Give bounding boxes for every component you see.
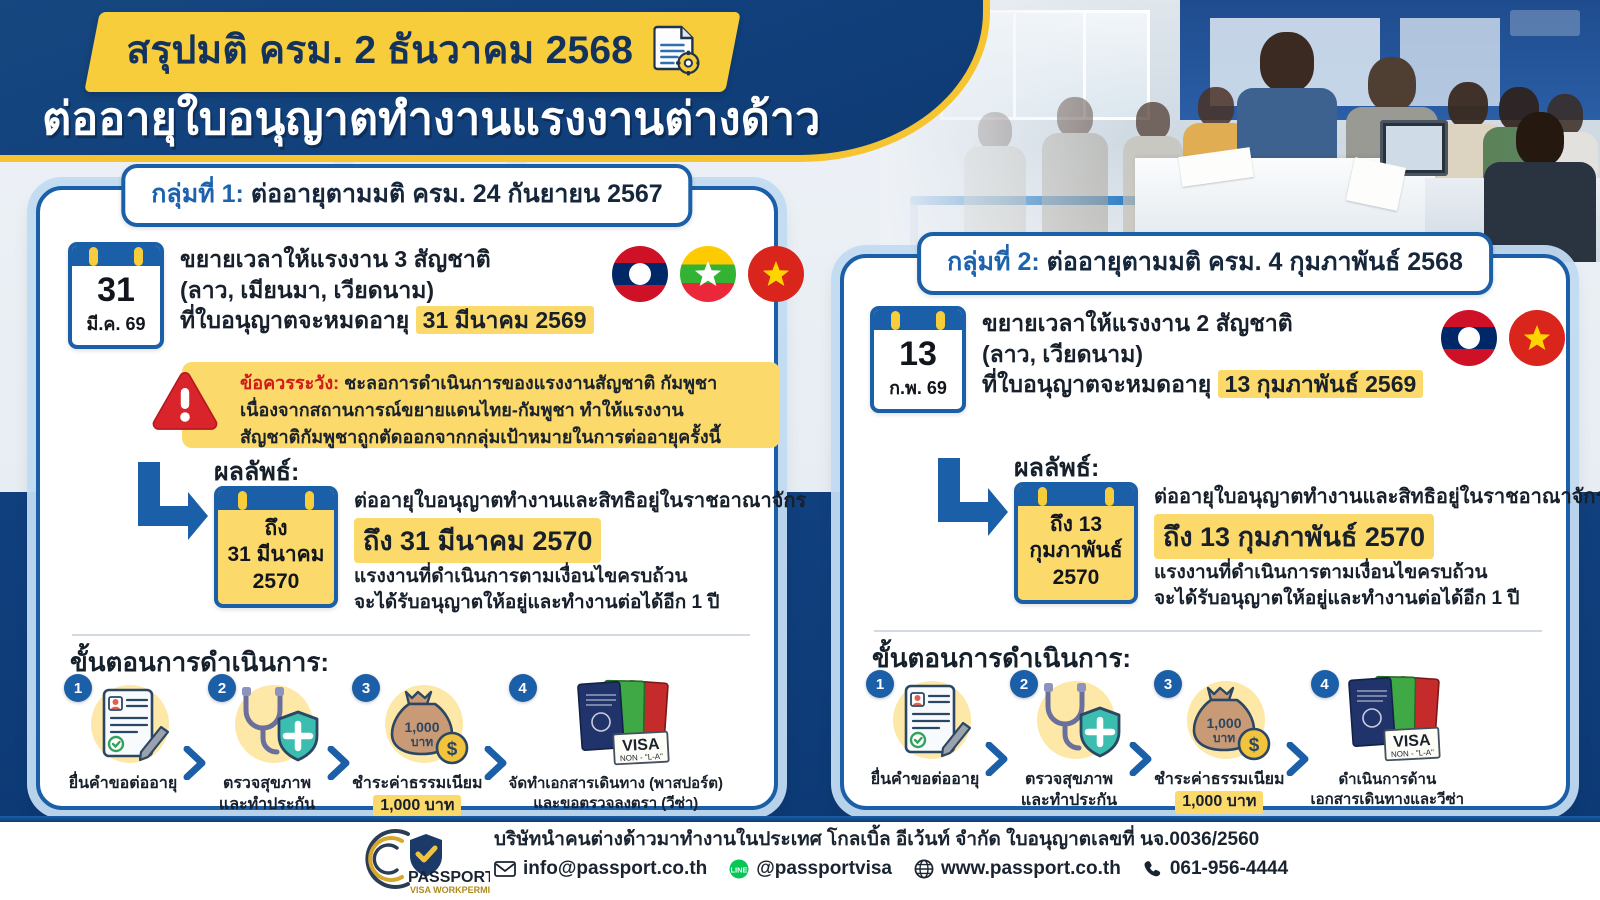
summary-line-2: (ลาว, เวียดนาม)	[982, 339, 1423, 370]
expiry-calendar-icon: 31 มี.ค. 69	[68, 242, 164, 349]
step-caption-line: ชำระค่าธรรมเนียม	[1154, 770, 1285, 791]
card-divider	[72, 634, 750, 636]
office-counter-queue-photo	[880, 0, 1600, 262]
step-caption: ตรวจสุขภาพ และทำประกัน	[219, 774, 315, 816]
group-2-title: กลุ่มที่ 2: ต่ออายุตามมติ ครม. 4 กุมภาพั…	[917, 232, 1493, 295]
group-2-summary-text: ขยายเวลาให้แรงงาน 2 สัญชาติ (ลาว, เวียดน…	[982, 306, 1423, 400]
step-caption: ชำระค่าธรรมเนียม 1,000 บาท	[352, 774, 483, 818]
chevron-right-icon	[1128, 742, 1154, 781]
group-1-summary-row: 31 มี.ค. 69 ขยายเวลาให้แรงงาน 3 สัญชาติ …	[68, 242, 804, 349]
footer-company-line: บริษัทนำคนต่างด้าวมาทำงานในประเทศ โกลเบิ…	[494, 826, 1288, 855]
result-calendar-line-2: กุมภาพันธ์	[1022, 538, 1130, 564]
group-1-title-rest: ต่ออายุตามมติ ครม. 24 กันยายน 2567	[244, 180, 663, 208]
result-calendar-line-3: 2570	[222, 569, 330, 595]
result-text: ต่ออายุใบอนุญาตทำงานและสิทธิอยู่ในราชอาณ…	[1154, 484, 1600, 611]
stethoscope-shield-icon	[222, 678, 326, 770]
logo-wordmark: PASSPORT.	[408, 869, 490, 886]
group-1-flags	[612, 242, 804, 302]
group-1-warning: ข้อควรระวัง: ชะลอการดำเนินการของแรงงานสั…	[150, 362, 780, 448]
step-number-badge: 4	[509, 674, 537, 702]
step-number-badge: 3	[352, 674, 380, 702]
step-item-2[interactable]: 2 ตรวจสุขภาพ และทำประกัน	[208, 678, 326, 816]
summary-line-2: (ลาว, เมียนมา, เวียดนาม)	[180, 275, 594, 306]
calendar-day: 31	[72, 266, 160, 307]
step-fee-amount: 1,000 บาท	[1175, 791, 1263, 814]
svg-text:$: $	[1249, 735, 1260, 756]
photo-staff	[1480, 112, 1600, 262]
warning-keyword: ข้อควรระวัง:	[240, 373, 339, 393]
warning-line-3: สัญชาติกัมพูชาถูกตัดออกจากกลุ่มเป้าหมายใ…	[240, 424, 768, 451]
steps-title: ขั้นตอนการดำเนินการ:	[872, 638, 1131, 679]
group-2-summary-row: 13 ก.พ. 69 ขยายเวลาให้แรงงาน 2 สัญชาติ (…	[870, 306, 1565, 413]
flag-vietnam-icon	[748, 246, 804, 302]
summary-line-1: ขยายเวลาให้แรงงาน 3 สัญชาติ	[180, 244, 594, 275]
step-fee-amount: 1,000 บาท	[373, 795, 461, 818]
chevron-right-icon	[984, 742, 1010, 781]
money-bag-amount: 1,000	[1207, 715, 1242, 731]
result-calendar-icon: ถึง 13 กุมภาพันธ์ 2570	[1014, 482, 1138, 604]
group-1-label: กลุ่มที่ 1:	[151, 180, 244, 208]
flag-laos-icon	[1441, 310, 1497, 366]
passports-visa-icon: VISA NON - "L-A"	[564, 678, 682, 770]
step-caption-line: ตรวจสุขภาพ	[219, 774, 315, 795]
stethoscope-shield-icon	[1024, 674, 1128, 766]
result-line-1: ต่ออายุใบอนุญาตทำงานและสิทธิอยู่ในราชอาณ…	[354, 488, 854, 515]
header-banner: สรุปมติ ครม. 2 ธันวาคม 2568 ต่ออายุใบอนุ…	[0, 0, 990, 162]
application-form-icon	[880, 674, 984, 766]
photo-emblem	[1510, 10, 1580, 36]
document-gear-icon	[653, 24, 699, 76]
flag-laos-icon	[612, 246, 668, 302]
warning-box: ข้อควรระวัง: ชะลอการดำเนินการของแรงงานสั…	[182, 362, 780, 448]
header-title-pill: สรุปมติ ครม. 2 ธันวาคม 2568	[84, 12, 740, 92]
warning-line-1-text: ชะลอการดำเนินการของแรงงานสัญชาติ กัมพูชา	[339, 373, 717, 393]
phone-icon	[1143, 859, 1163, 879]
summary-line-3: ที่ใบอนุญาตจะหมดอายุ 13 กุมภาพันธ์ 2569	[982, 369, 1423, 400]
passport-logo: PASSPORT. VISA WORKPERMIT	[364, 824, 490, 896]
application-form-icon	[78, 678, 182, 770]
summary-line-3-prefix: ที่ใบอนุญาตจะหมดอายุ	[180, 307, 416, 333]
group-2-label: กลุ่มที่ 2:	[947, 248, 1040, 276]
group-1-title: กลุ่มที่ 1: ต่ออายุตามมติ ครม. 24 กันยาย…	[121, 164, 692, 227]
step-item-1[interactable]: 1 ยื่นคำขอต่ออายุ	[866, 674, 984, 791]
flag-vietnam-icon	[1509, 310, 1565, 366]
result-highlight: ถึง 31 มีนาคม 2570	[354, 518, 601, 563]
chevron-right-icon	[182, 746, 208, 785]
step-number-badge: 3	[1154, 670, 1182, 698]
summary-line-3-prefix: ที่ใบอนุญาตจะหมดอายุ	[982, 371, 1218, 397]
step-item-4[interactable]: 4 VISA NON - "L-A" จัดทำเอกสารเดินทาง (พ…	[509, 678, 723, 813]
step-number-badge: 2	[208, 674, 236, 702]
result-calendar-line-2: 31 มีนาคม	[222, 542, 330, 568]
chevron-right-icon	[1285, 742, 1311, 781]
logo-subtitle: VISA WORKPERMIT	[410, 885, 490, 895]
step-caption-line: และทำประกัน	[1021, 791, 1117, 812]
summary-line-3: ที่ใบอนุญาตจะหมดอายุ 31 มีนาคม 2569	[180, 305, 594, 336]
group-1-steps: 1 ยื่นคำขอต่ออายุ 2	[64, 678, 764, 818]
footer-contact-line: info@passport.co.th LINE @passportvisa w…	[494, 858, 1288, 880]
step-caption: ชำระค่าธรรมเนียม 1,000 บาท	[1154, 770, 1285, 814]
chevron-right-icon	[483, 746, 509, 785]
result-highlight: ถึง 13 กุมภาพันธ์ 2570	[1154, 514, 1434, 559]
step-number-badge: 1	[64, 674, 92, 702]
result-calendar-line-1: ถึง	[222, 516, 330, 542]
result-calendar-line-1: ถึง 13	[1022, 512, 1130, 538]
step-caption: ตรวจสุขภาพ และทำประกัน	[1021, 770, 1117, 812]
step-item-1[interactable]: 1 ยื่นคำขอต่ออายุ	[64, 678, 182, 795]
step-caption-line: ยื่นคำขอต่ออายุ	[871, 770, 980, 791]
result-arrow-icon	[936, 458, 1010, 542]
card-divider	[874, 630, 1542, 632]
footer-contact: บริษัทนำคนต่างด้าวมาทำงานในประเทศ โกลเบิ…	[494, 826, 1288, 880]
flag-myanmar-icon	[680, 246, 736, 302]
line-app-icon: LINE	[729, 859, 749, 879]
svg-text:LINE: LINE	[731, 865, 748, 874]
page-subtitle: ต่ออายุใบอนุญาตทำงานแรงงานต่างด้าว	[42, 82, 820, 154]
passports-visa-icon: VISA NON - "L-A"	[1335, 674, 1453, 766]
svg-text:$: $	[447, 739, 458, 760]
step-caption-line: ชำระค่าธรรมเนียม	[352, 774, 483, 795]
step-caption-line: ดำเนินการด้าน	[1311, 770, 1465, 790]
step-caption-line: จัดทำเอกสารเดินทาง (พาสปอร์ต)	[509, 774, 723, 794]
step-number-badge: 2	[1010, 670, 1038, 698]
step-item-3[interactable]: 3 1,000 บาท $ ชำระค่าธรรมเนียม 1,000 บาท	[352, 678, 483, 818]
step-caption-line: ตรวจสุขภาพ	[1021, 770, 1117, 791]
result-line-4: จะได้รับอนุญาตให้อยู่และทำงานต่อได้อีก 1…	[354, 590, 854, 616]
step-caption-line: เอกสารเดินทางและวีซ่า	[1311, 790, 1465, 810]
summary-expiry-highlight: 13 กุมภาพันธ์ 2569	[1218, 370, 1424, 398]
warning-triangle-icon	[150, 370, 220, 434]
calendar-day: 13	[874, 330, 962, 371]
result-calendar-icon: ถึง 31 มีนาคม 2570	[214, 486, 338, 608]
step-caption-line: และขอตรวจลงตรา (วีซ่า)	[509, 794, 723, 814]
result-line-3: แรงงานที่ดำเนินการตามเงื่อนไขครบถ้วน	[354, 564, 854, 590]
summary-expiry-highlight: 31 มีนาคม 2569	[416, 306, 594, 334]
result-calendar-text: ถึง 13 กุมภาพันธ์ 2570	[1018, 506, 1134, 600]
result-arrow-icon	[136, 462, 210, 546]
footer-phone[interactable]: 061-956-4444	[1170, 858, 1288, 880]
group-2-steps: 1 ยื่นคำขอต่ออายุ 2	[866, 674, 1556, 814]
money-bag-unit: บาท	[411, 735, 433, 749]
footer-line-id[interactable]: @passportvisa	[756, 858, 892, 880]
page-title: สรุปมติ ครม. 2 ธันวาคม 2568	[126, 19, 633, 81]
step-caption: จัดทำเอกสารเดินทาง (พาสปอร์ต) และขอตรวจล…	[509, 774, 723, 813]
step-caption-line: ยื่นคำขอต่ออายุ	[69, 774, 178, 795]
calendar-month: มี.ค. 69	[72, 307, 160, 345]
step-caption: ดำเนินการด้าน เอกสารเดินทางและวีซ่า	[1311, 770, 1465, 809]
group-2-card: กลุ่มที่ 2: ต่ออายุตามมติ ครม. 4 กุมภาพั…	[840, 254, 1570, 810]
expiry-calendar-icon: 13 ก.พ. 69	[870, 306, 966, 413]
result-text: ต่ออายุใบอนุญาตทำงานและสิทธิอยู่ในราชอาณ…	[354, 488, 854, 615]
group-1-summary-text: ขยายเวลาให้แรงงาน 3 สัญชาติ (ลาว, เมียนม…	[180, 242, 594, 336]
step-item-3[interactable]: 3 1,000 บาท $ ชำระค่าธรรมเนียม 1,000 บาท	[1154, 674, 1285, 814]
summary-line-1: ขยายเวลาให้แรงงาน 2 สัญชาติ	[982, 308, 1423, 339]
footer-email[interactable]: info@passport.co.th	[523, 858, 707, 880]
step-number-badge: 4	[1311, 670, 1339, 698]
step-item-4[interactable]: 4 VISA NON - "L-A" ดำเนินการด้าน เอกสารเ…	[1311, 674, 1465, 809]
step-caption: ยื่นคำขอต่ออายุ	[69, 774, 178, 795]
steps-title: ขั้นตอนการดำเนินการ:	[70, 642, 329, 683]
result-calendar-text: ถึง 31 มีนาคม 2570	[218, 510, 334, 604]
money-bag-icon: 1,000 บาท $	[1174, 674, 1278, 766]
calendar-month: ก.พ. 69	[874, 371, 962, 409]
warning-line-2: เนื่องจากสถานการณ์ขยายแดนไทย-กัมพูชา ทำใ…	[240, 397, 768, 424]
group-2-flags	[1441, 306, 1565, 366]
step-caption: ยื่นคำขอต่ออายุ	[871, 770, 980, 791]
group-2-title-rest: ต่ออายุตามมติ ครม. 4 กุมภาพันธ์ 2568	[1040, 248, 1463, 276]
warning-line-1: ข้อควรระวัง: ชะลอการดำเนินการของแรงงานสั…	[240, 370, 768, 397]
result-line-3: แรงงานที่ดำเนินการตามเงื่อนไขครบถ้วน	[1154, 560, 1600, 586]
money-bag-icon: 1,000 บาท $	[372, 678, 476, 770]
footer-website[interactable]: www.passport.co.th	[941, 858, 1121, 880]
globe-icon	[914, 859, 934, 879]
chevron-right-icon	[326, 746, 352, 785]
envelope-icon	[494, 861, 516, 877]
result-line-1: ต่ออายุใบอนุญาตทำงานและสิทธิอยู่ในราชอาณ…	[1154, 484, 1600, 511]
money-bag-unit: บาท	[1213, 731, 1235, 745]
money-bag-amount: 1,000	[405, 719, 440, 735]
result-calendar-line-3: 2570	[1022, 565, 1130, 591]
result-line-4: จะได้รับอนุญาตให้อยู่และทำงานต่อได้อีก 1…	[1154, 586, 1600, 612]
group-1-card: กลุ่มที่ 1: ต่ออายุตามมติ ครม. 24 กันยาย…	[36, 186, 778, 810]
step-caption-line: และทำประกัน	[219, 795, 315, 816]
step-number-badge: 1	[866, 670, 894, 698]
step-item-2[interactable]: 2 ตรวจสุขภาพ และทำประกัน	[1010, 674, 1128, 812]
